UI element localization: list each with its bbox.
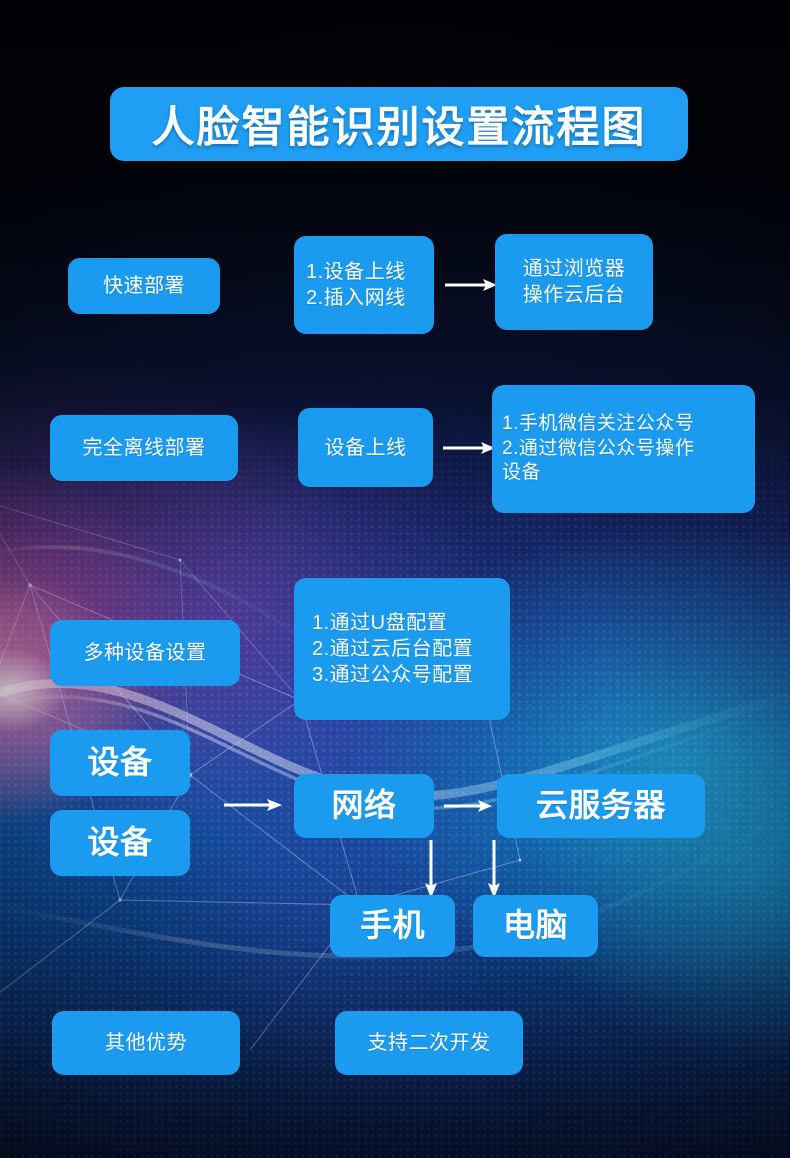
row1-result-box[interactable]: 通过浏览器 操作云后台 bbox=[495, 234, 653, 330]
arrow-right-icon bbox=[224, 795, 282, 815]
topology-phone-box[interactable]: 手机 bbox=[330, 895, 455, 957]
arrow-right-icon bbox=[443, 438, 495, 458]
topology-network-box[interactable]: 网络 bbox=[294, 774, 434, 838]
row1-label-box[interactable]: 快速部署 bbox=[68, 258, 220, 314]
row3-label-box[interactable]: 多种设备设置 bbox=[50, 620, 240, 686]
topology-device-top-box[interactable]: 设备 bbox=[50, 730, 190, 796]
arrow-right-icon bbox=[444, 796, 492, 816]
row3-options-box[interactable]: 1.通过U盘配置 2.通过云后台配置 3.通过公众号配置 bbox=[294, 578, 510, 720]
row2-label-box[interactable]: 完全离线部署 bbox=[50, 415, 238, 481]
flowchart-poster: 人脸智能识别设置流程图 快速部署 1.设备上线 2.插入网线 通过浏览器 操作云… bbox=[0, 0, 790, 1158]
topology-computer-box[interactable]: 电脑 bbox=[473, 895, 598, 957]
arrow-down-icon bbox=[421, 840, 441, 898]
arrow-down-icon bbox=[484, 840, 504, 898]
row2-result-box[interactable]: 1.手机微信关注公众号 2.通过微信公众号操作 设备 bbox=[492, 385, 755, 513]
page-title: 人脸智能识别设置流程图 bbox=[110, 87, 688, 161]
topology-cloud-server-box[interactable]: 云服务器 bbox=[497, 774, 705, 838]
row2-step-box[interactable]: 设备上线 bbox=[298, 408, 433, 487]
row1-step-box[interactable]: 1.设备上线 2.插入网线 bbox=[294, 236, 434, 334]
topology-device-bottom-box[interactable]: 设备 bbox=[50, 810, 190, 876]
row5-label-box[interactable]: 其他优势 bbox=[52, 1011, 240, 1075]
arrow-right-icon bbox=[445, 275, 497, 295]
row5-note-box[interactable]: 支持二次开发 bbox=[335, 1011, 523, 1075]
